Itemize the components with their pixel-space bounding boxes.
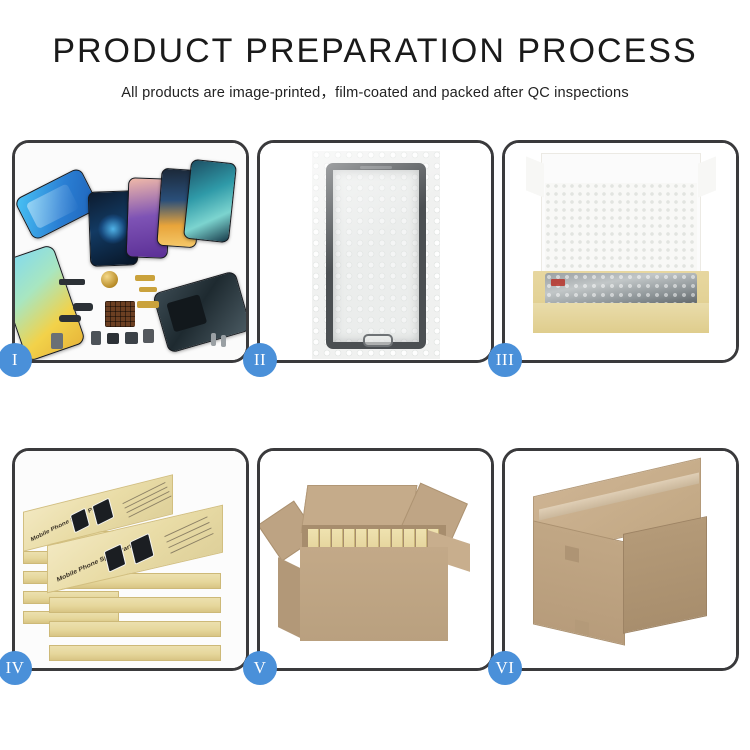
part-small-1 — [91, 331, 101, 345]
wrapped-screen — [326, 163, 426, 349]
part-small-4 — [143, 329, 154, 343]
step-card-4[interactable]: Mobile Phone Spare Parts — [12, 448, 249, 671]
phone-back-housing — [152, 270, 246, 353]
box-stack: Mobile Phone Spare Parts — [21, 469, 245, 659]
products-photo — [15, 143, 246, 360]
step-card-5[interactable]: V — [257, 448, 494, 671]
speaker-part-icon — [101, 271, 118, 288]
part-strip-1 — [59, 279, 85, 285]
carton-front-face — [300, 547, 448, 641]
part-strip-3 — [59, 315, 81, 322]
step-image-3 — [505, 143, 736, 360]
stacked-box-front-2 — [49, 597, 221, 613]
box-foam-liner — [545, 183, 697, 275]
carton-edge-tab-top — [565, 545, 579, 562]
step-image-2 — [260, 143, 491, 360]
stacked-boxes-photo: Mobile Phone Spare Parts — [15, 451, 246, 668]
step-image-4: Mobile Phone Spare Parts — [15, 451, 246, 668]
flex-cable-2 — [139, 287, 157, 292]
step-badge-6: VI — [488, 651, 522, 685]
page-title: PRODUCT PREPARATION PROCESS — [0, 34, 750, 68]
step-image-1 — [15, 143, 246, 360]
chip-part-icon — [105, 301, 135, 327]
step-image-5 — [260, 451, 491, 668]
step-card-1[interactable]: I — [12, 140, 249, 363]
screw-1 — [211, 333, 216, 346]
part-strip-2 — [73, 303, 93, 311]
process-steps-grid: I II III — [12, 140, 738, 671]
step-badge-3: III — [488, 343, 522, 377]
sealed-carton-side — [623, 516, 707, 634]
box-phone-graphic-4 — [129, 533, 154, 565]
step-badge-2: II — [243, 343, 277, 377]
page-subtitle: All products are image-printed，film-coat… — [0, 81, 750, 102]
phone-display-teal — [183, 159, 237, 243]
screw-2 — [221, 335, 226, 347]
page-header: PRODUCT PREPARATION PROCESS All products… — [0, 0, 750, 102]
flex-cable-1 — [135, 275, 155, 281]
step-card-2[interactable]: II — [257, 140, 494, 363]
stacked-box-front-4 — [49, 645, 221, 661]
part-small-2 — [107, 333, 119, 344]
wrapped-screen-in-box — [545, 273, 697, 305]
open-box-photo — [505, 143, 736, 360]
box-phone-graphic-2 — [92, 497, 115, 526]
part-small-5 — [51, 333, 63, 349]
filled-carton-photo — [260, 451, 491, 668]
step-badge-5: V — [243, 651, 277, 685]
sealed-carton-photo — [505, 451, 736, 668]
box-front-face — [533, 303, 709, 333]
part-small-3 — [125, 332, 138, 344]
step-badge-1: I — [0, 343, 32, 377]
step-card-3[interactable]: III — [502, 140, 739, 363]
stacked-box-front-3 — [49, 621, 221, 637]
step-card-6[interactable]: VI — [502, 448, 739, 671]
step-image-6 — [505, 451, 736, 668]
bubble-wrap-photo — [260, 143, 491, 360]
step-badge-4: IV — [0, 651, 32, 685]
flex-cable-3 — [137, 301, 159, 308]
carton-side-face — [278, 557, 302, 639]
